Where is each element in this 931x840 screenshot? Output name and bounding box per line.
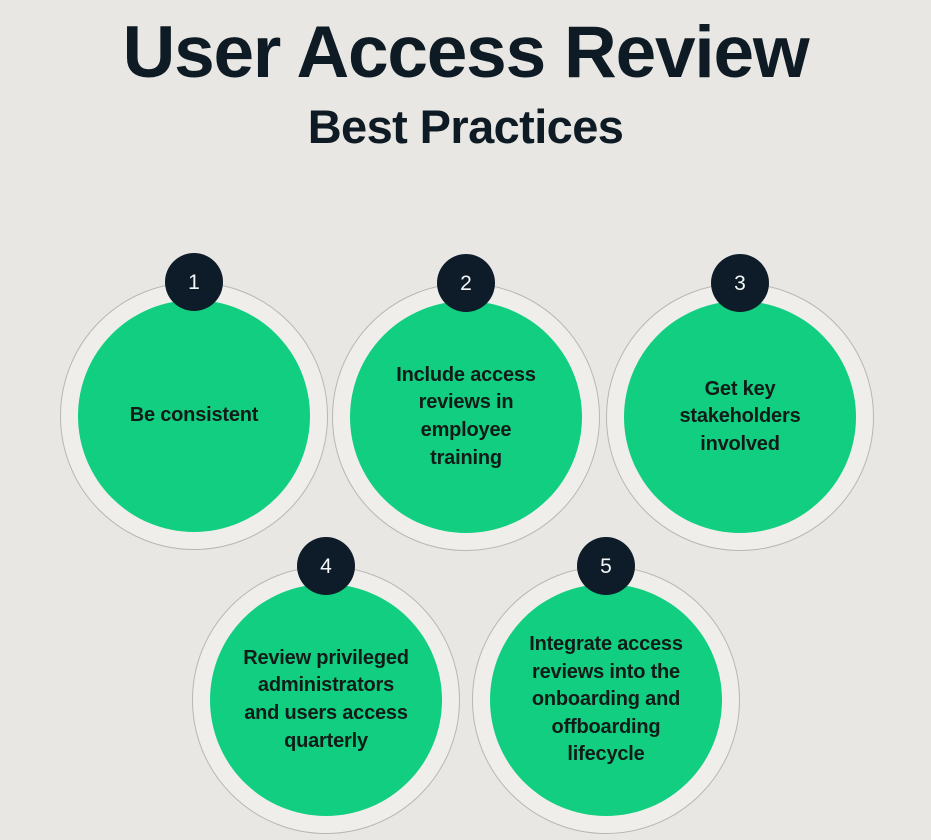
practice-number-2: 2: [460, 273, 472, 294]
practice-label-3: Get key stakeholders involved: [640, 376, 840, 459]
practice-node-3[interactable]: Get key stakeholders involved 3: [606, 283, 874, 551]
practice-node-1[interactable]: Be consistent 1: [60, 282, 328, 550]
practice-number-5: 5: [600, 556, 612, 577]
practice-number-1: 1: [188, 272, 200, 293]
practice-badge-5: 5: [577, 537, 635, 595]
practice-label-4: Review privileged administrators and use…: [226, 645, 426, 755]
practice-number-3: 3: [734, 273, 746, 294]
practice-badge-2: 2: [437, 254, 495, 312]
practice-label-2: Include access reviews in employee train…: [366, 362, 566, 472]
practice-badge-3: 3: [711, 254, 769, 312]
practice-label-5: Integrate access reviews into the onboar…: [506, 631, 706, 769]
practice-badge-4: 4: [297, 537, 355, 595]
practice-disc-3[interactable]: Get key stakeholders involved: [624, 301, 856, 533]
practice-node-2[interactable]: Include access reviews in employee train…: [332, 283, 600, 551]
practice-disc-5[interactable]: Integrate access reviews into the onboar…: [490, 584, 722, 816]
page-subtitle: Best Practices: [0, 89, 931, 150]
practice-disc-4[interactable]: Review privileged administrators and use…: [210, 584, 442, 816]
practice-disc-1[interactable]: Be consistent: [78, 300, 310, 532]
practice-disc-2[interactable]: Include access reviews in employee train…: [350, 301, 582, 533]
practice-node-5[interactable]: Integrate access reviews into the onboar…: [472, 566, 740, 834]
practice-number-4: 4: [320, 556, 332, 577]
page-title: User Access Review: [0, 0, 931, 89]
header: User Access Review Best Practices: [0, 0, 931, 150]
practice-badge-1: 1: [165, 253, 223, 311]
infographic-canvas: User Access Review Best Practices Be con…: [0, 0, 931, 840]
practice-node-4[interactable]: Review privileged administrators and use…: [192, 566, 460, 834]
practice-label-1: Be consistent: [94, 402, 294, 430]
